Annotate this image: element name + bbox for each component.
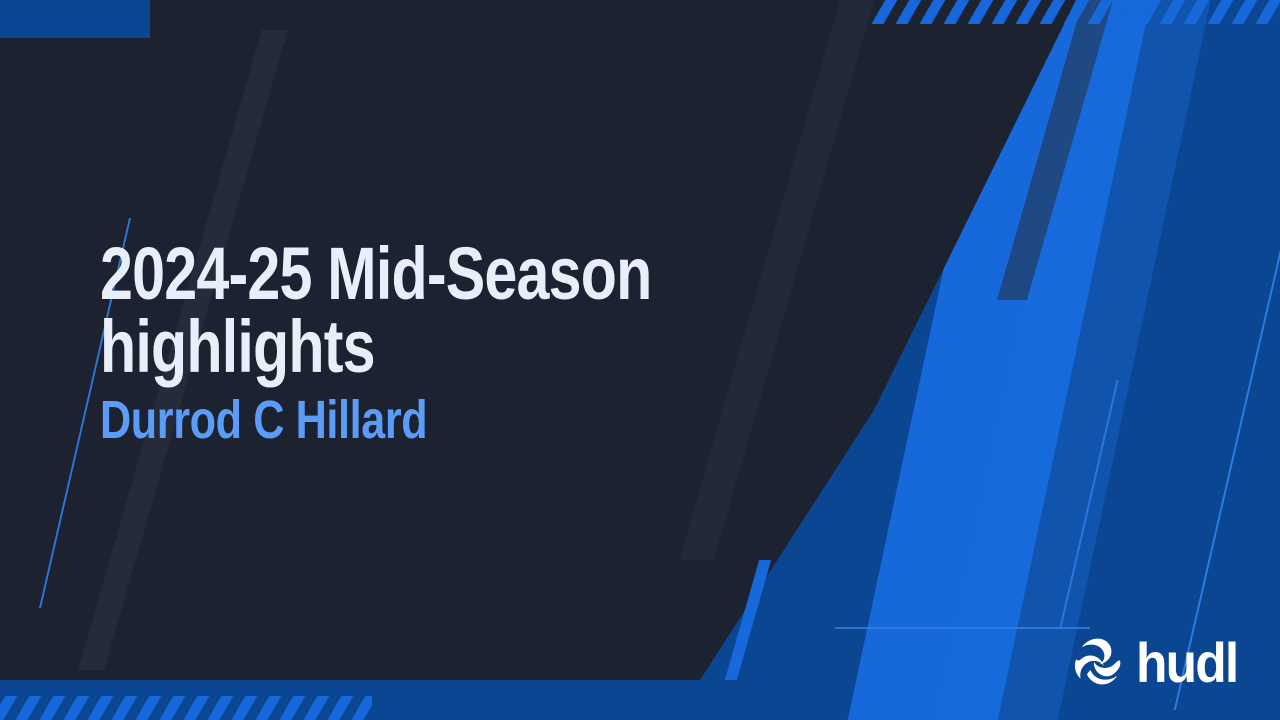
athlete-name: Durrod C Hillard [100,393,860,447]
hudl-swirl-icon [1069,634,1127,692]
hudl-wordmark: hudl [1136,635,1237,691]
title-text-block: 2024-25 Mid-Season highlights Durrod C H… [100,238,860,447]
hudl-logo: hudl [1069,634,1246,692]
hairline-horizontal [835,627,1090,629]
hatch-top-right [868,0,1280,24]
title-card: 2024-25 Mid-Season highlights Durrod C H… [0,0,1280,720]
hatch-bottom-left [0,696,372,720]
page-title: 2024-25 Mid-Season highlights [100,238,860,383]
